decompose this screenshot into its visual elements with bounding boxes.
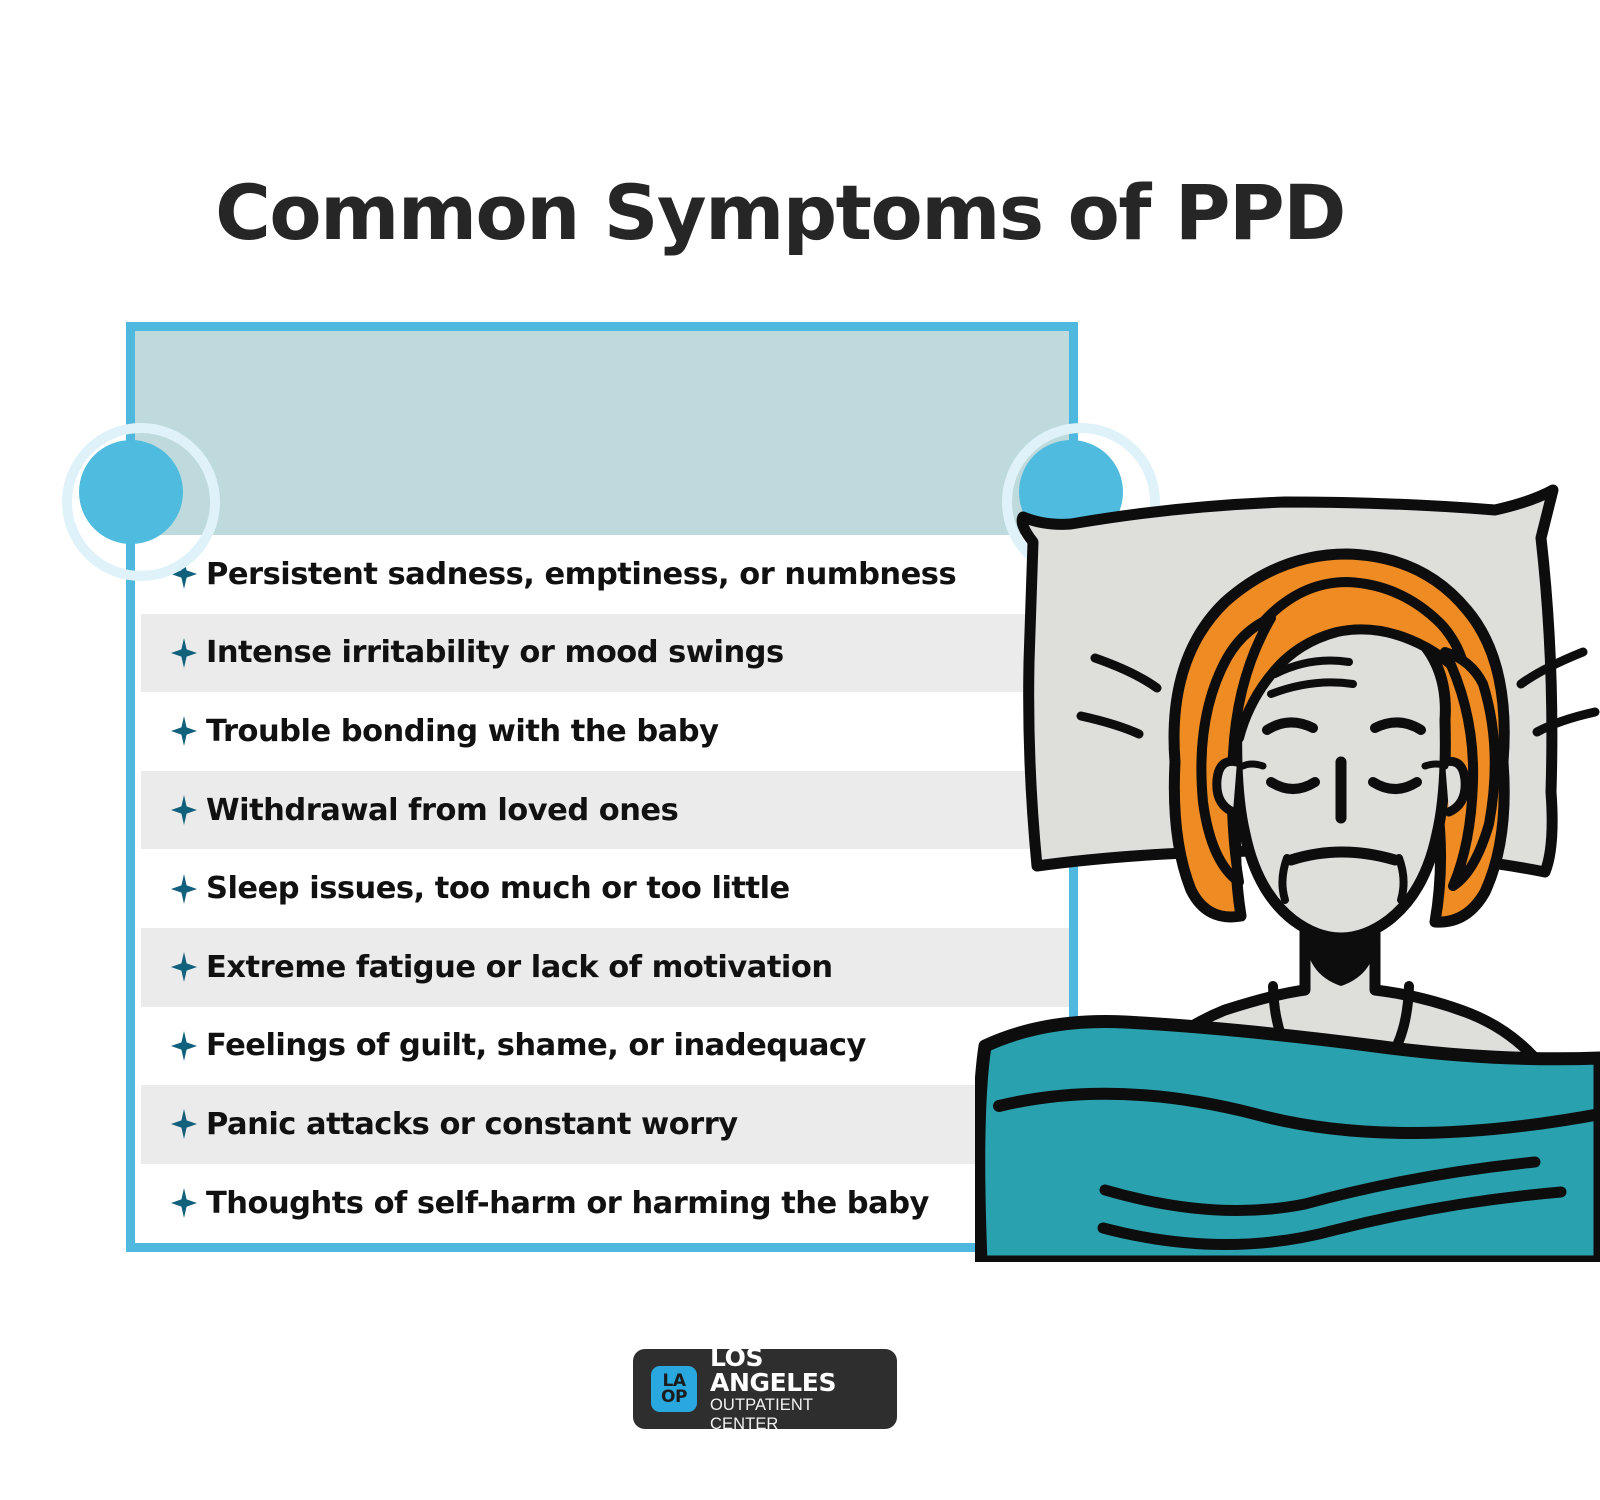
symptoms-card: Persistent sadness, emptiness, or numbne… bbox=[126, 322, 1078, 1252]
left-accent-circle bbox=[79, 440, 183, 544]
sparkle-icon bbox=[171, 1109, 197, 1139]
list-item: Thoughts of self-harm or harming the bab… bbox=[135, 1164, 1069, 1243]
list-item-label: Panic attacks or constant worry bbox=[206, 1107, 738, 1142]
list-item: Persistent sadness, emptiness, or numbne… bbox=[135, 535, 1069, 614]
sparkle-icon bbox=[171, 952, 197, 982]
list-item-label: Trouble bonding with the baby bbox=[206, 714, 718, 749]
brand-name: LOS ANGELES OUTPATIENT CENTER bbox=[710, 1345, 879, 1434]
list-item-label: Thoughts of self-harm or harming the bab… bbox=[206, 1186, 929, 1221]
list-item: Intense irritability or mood swings bbox=[135, 614, 1069, 693]
sparkle-icon bbox=[171, 874, 197, 904]
list-item-label: Sleep issues, too much or too little bbox=[206, 871, 790, 906]
list-item: Panic attacks or constant worry bbox=[135, 1085, 1069, 1164]
brand-logo[interactable]: LA OP LOS ANGELES OUTPATIENT CENTER bbox=[633, 1349, 897, 1429]
sparkle-icon bbox=[171, 795, 197, 825]
brand-name-line2: OUTPATIENT CENTER bbox=[710, 1396, 879, 1434]
list-item: Sleep issues, too much or too little bbox=[135, 849, 1069, 928]
list-item: Trouble bonding with the baby bbox=[135, 692, 1069, 771]
sparkle-icon bbox=[171, 638, 197, 668]
list-item: Feelings of guilt, shame, or inadequacy bbox=[135, 1007, 1069, 1086]
card-header-band bbox=[135, 331, 1069, 535]
laop-logo-mark: LA OP bbox=[651, 1366, 697, 1412]
logo-mark-line2: OP bbox=[661, 1389, 687, 1405]
sparkle-icon bbox=[171, 716, 197, 746]
woman-in-bed-illustration bbox=[975, 462, 1600, 1262]
list-item-label: Feelings of guilt, shame, or inadequacy bbox=[206, 1028, 866, 1063]
page-title: Common Symptoms of PPD bbox=[0, 168, 1560, 257]
list-item-label: Intense irritability or mood swings bbox=[206, 635, 784, 670]
list-item-label: Persistent sadness, emptiness, or numbne… bbox=[206, 557, 956, 592]
symptom-list: Persistent sadness, emptiness, or numbne… bbox=[135, 535, 1069, 1243]
sparkle-icon bbox=[171, 1031, 197, 1061]
list-item-label: Withdrawal from loved ones bbox=[206, 793, 678, 828]
list-item: Withdrawal from loved ones bbox=[135, 771, 1069, 850]
list-item: Extreme fatigue or lack of motivation bbox=[135, 928, 1069, 1007]
list-item-label: Extreme fatigue or lack of motivation bbox=[206, 950, 833, 985]
brand-name-line1: LOS ANGELES bbox=[710, 1345, 879, 1396]
sparkle-icon bbox=[171, 1188, 197, 1218]
